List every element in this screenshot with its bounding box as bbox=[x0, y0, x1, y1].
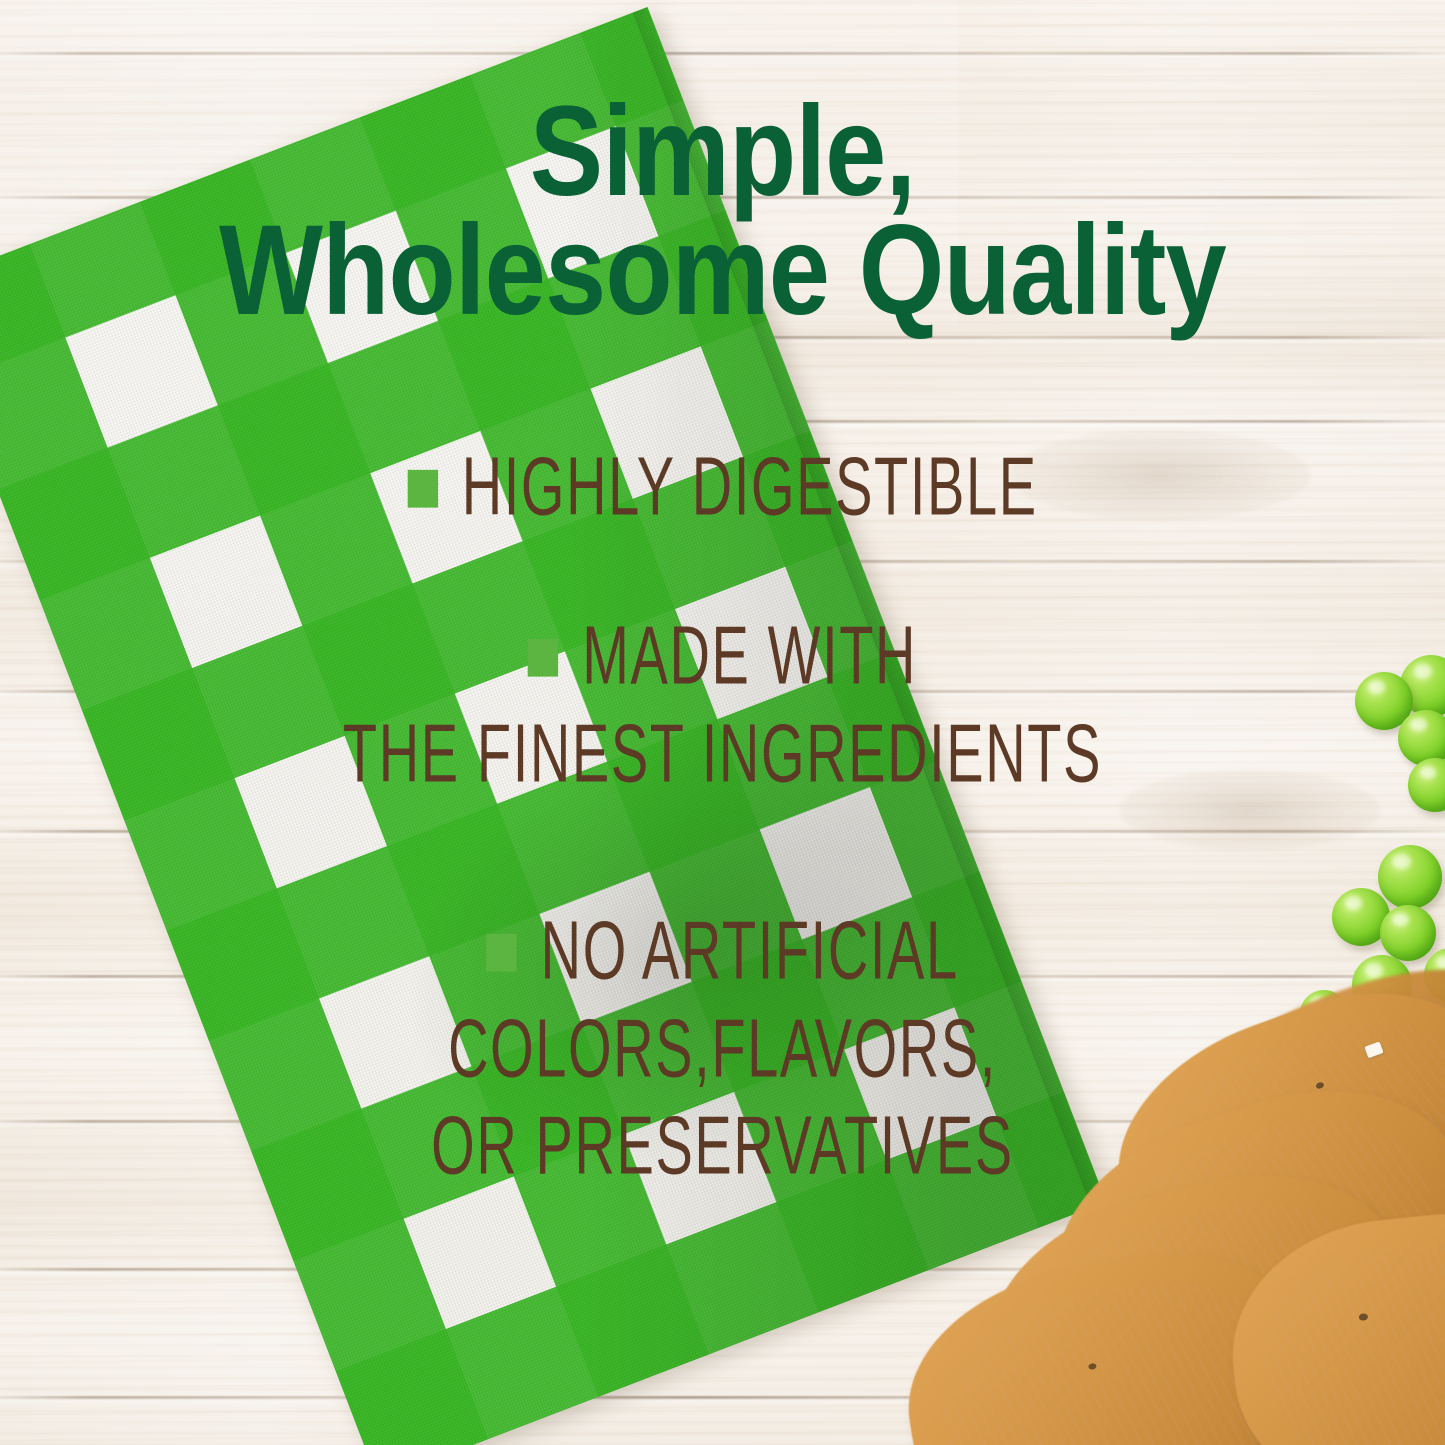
feature-item-no-artificial: NO ARTIFICIAL COLORS,FLAVORS, OR PRESERV… bbox=[145, 902, 1301, 1194]
feature-item-highly-digestible: HIGHLY DIGESTIBLE bbox=[145, 438, 1301, 535]
feature-text: MADE WITH bbox=[582, 609, 917, 701]
feature-text: THE FINEST INGREDIENTS bbox=[145, 704, 1301, 801]
feature-item-finest-ingredients: MADE WITH THE FINEST INGREDIENTS bbox=[145, 607, 1301, 802]
feature-line: NO ARTIFICIAL bbox=[145, 902, 1301, 999]
feature-text: COLORS,FLAVORS, bbox=[145, 999, 1301, 1096]
headline-line-1: Simple, bbox=[101, 92, 1344, 211]
green-square-bullet-icon bbox=[486, 934, 516, 972]
marketing-graphic-canvas: Simple, Wholesome Quality HIGHLY DIGESTI… bbox=[0, 0, 1445, 1445]
feature-line: HIGHLY DIGESTIBLE bbox=[145, 438, 1301, 535]
feature-line: MADE WITH bbox=[145, 607, 1301, 704]
green-square-bullet-icon bbox=[407, 470, 437, 508]
headline-line-2: Wholesome Quality bbox=[101, 211, 1344, 330]
green-square-bullet-icon bbox=[528, 638, 558, 676]
feature-text: HIGHLY DIGESTIBLE bbox=[462, 440, 1038, 532]
feature-text: OR PRESERVATIVES bbox=[145, 1097, 1301, 1194]
page-title: Simple, Wholesome Quality bbox=[101, 92, 1344, 330]
feature-list: HIGHLY DIGESTIBLE MADE WITH THE FINEST I… bbox=[0, 438, 1445, 1150]
feature-text: NO ARTIFICIAL bbox=[541, 904, 959, 996]
